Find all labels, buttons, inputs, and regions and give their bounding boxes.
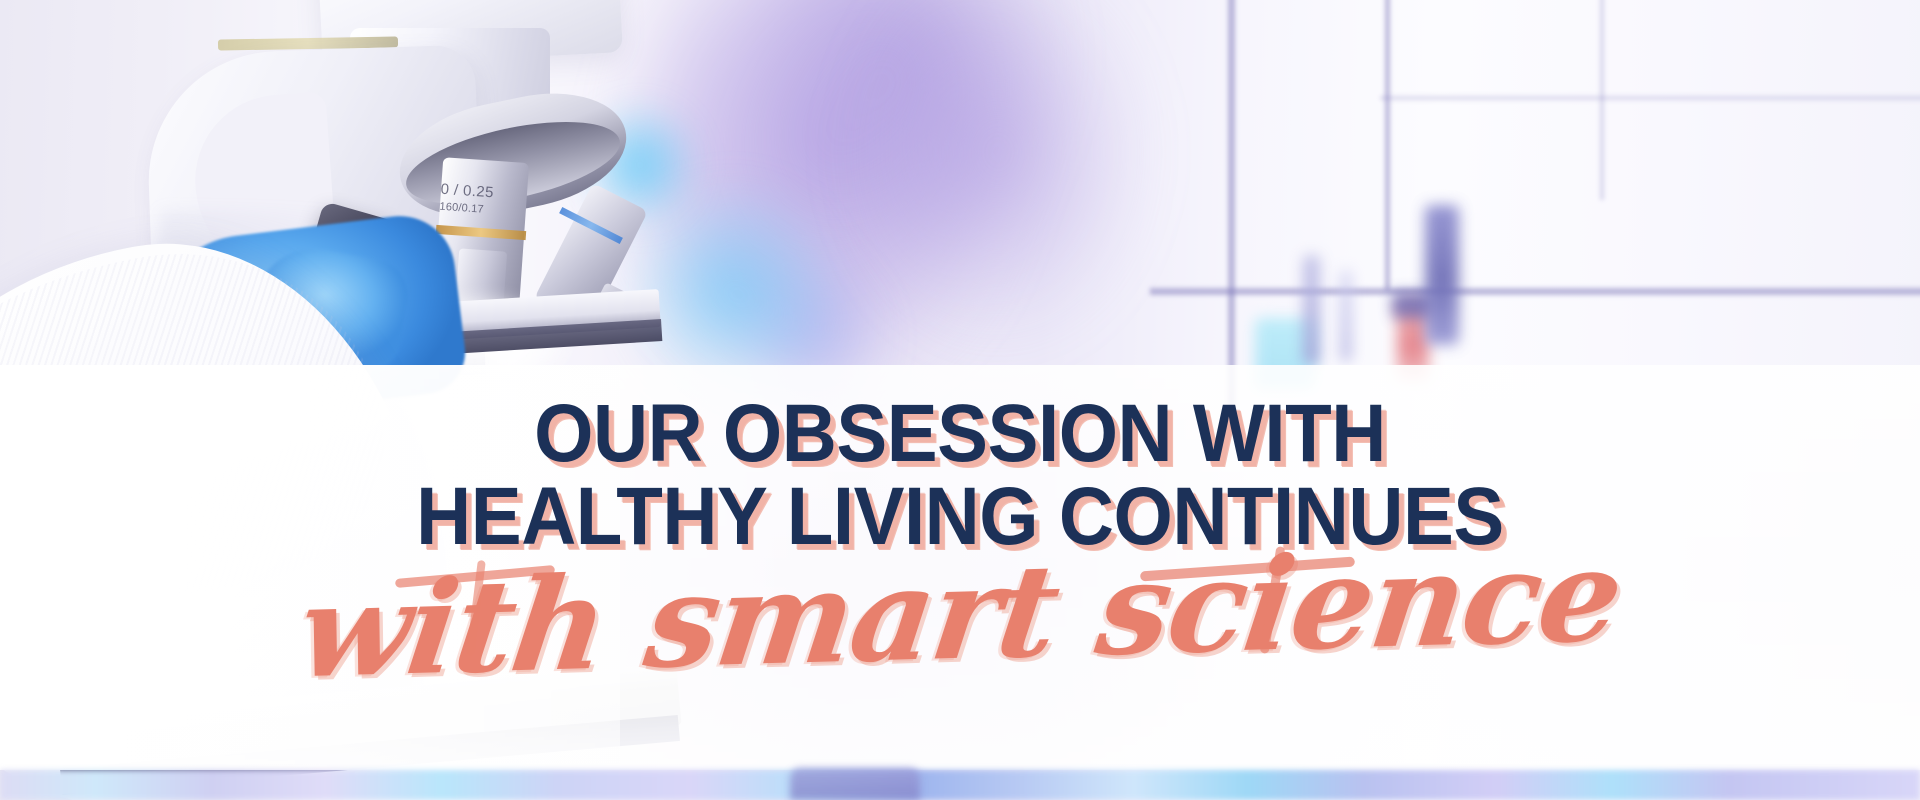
lab-window-frame-vertical-1: [1228, 0, 1235, 410]
reagent-bottle-slim-1: [1303, 255, 1320, 365]
hero-banner: 0 / 0.25 160/0.17 OUR OBSESSION WITH: [0, 0, 1920, 800]
reagent-bottle-dark: [1425, 205, 1459, 345]
microscope: 0 / 0.25 160/0.17: [0, 0, 760, 800]
reagent-bottle-slim-2: [1340, 270, 1352, 362]
background-photo: 0 / 0.25 160/0.17: [0, 0, 1920, 800]
lab-window-frame-horizontal-2: [1380, 96, 1920, 100]
lab-window-frame-vertical-2: [1385, 0, 1390, 290]
bottom-photo-strip: [0, 770, 1920, 800]
lab-window-frame-horizontal-1: [1150, 288, 1920, 295]
bottom-strip-object: [790, 768, 920, 800]
lab-window-frame-vertical-3: [1600, 0, 1604, 200]
